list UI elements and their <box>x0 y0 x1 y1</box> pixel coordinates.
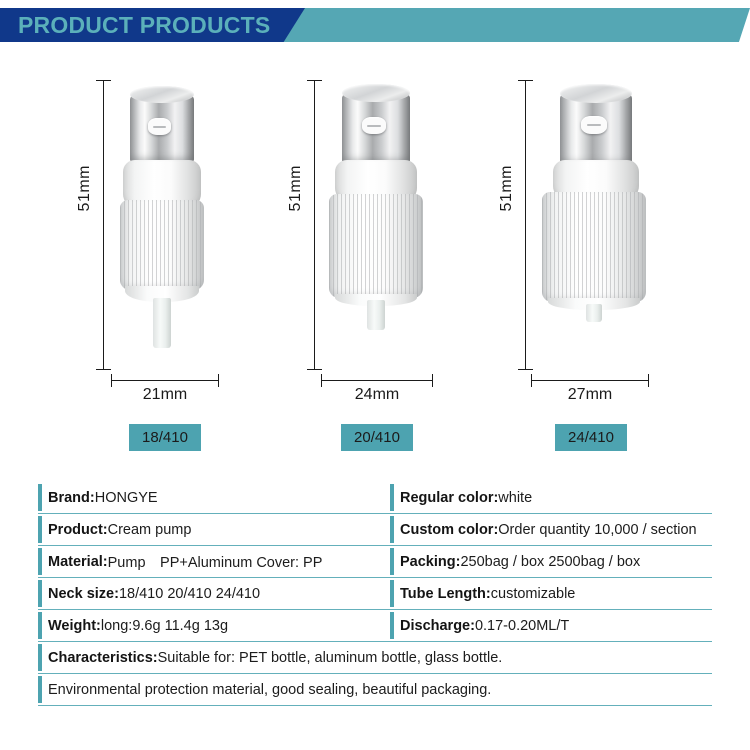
width-dimension-line-1 <box>111 380 219 381</box>
spec-key: Custom color: <box>400 522 498 538</box>
width-dimension-label-1: 21mm <box>111 386 219 404</box>
page-title: PRODUCT PRODUCTS <box>18 8 270 42</box>
spec-key: Tube Length: <box>400 586 491 602</box>
spec-cell-regular-color: Regular color:white <box>390 482 712 513</box>
neck-size-badge-3: 24/410 <box>555 424 627 451</box>
product-item-1: 51mm 21mm 18/410 <box>42 60 272 460</box>
spec-value: 18/410 20/410 24/410 <box>119 586 260 602</box>
height-dimension-line-1 <box>103 80 104 370</box>
spec-key: Weight: <box>48 618 101 634</box>
product-gallery: 51mm 21mm 18/410 51mm 24mm 20/ <box>0 60 750 460</box>
spec-value: white <box>498 490 532 506</box>
spec-cell-weight: Weight:long:9.6g 11.4g 13g <box>38 610 390 641</box>
spec-value: customizable <box>491 586 576 602</box>
height-dimension-line-2 <box>314 80 315 370</box>
spec-value: Order quantity 10,000 / section <box>498 522 696 538</box>
spec-cell-neck-size: Neck size:18/410 20/410 24/410 <box>38 578 390 609</box>
width-dimension-label-3: 27mm <box>531 386 649 404</box>
spec-key: Brand: <box>48 490 95 506</box>
spec-cell-custom-color: Custom color:Order quantity 10,000 / sec… <box>390 514 712 545</box>
spec-cell-discharge: Discharge:0.17-0.20ML/T <box>390 610 712 641</box>
spec-cell-brand: Brand:HONGYE <box>38 482 390 513</box>
product-item-3: 51mm 27mm 24/410 <box>468 60 698 460</box>
table-row: Product:Cream pump Custom color:Order qu… <box>38 514 712 546</box>
spec-value: Pump PP+Aluminum Cover: PP <box>108 551 323 572</box>
spec-value: long:9.6g 11.4g 13g <box>101 618 228 634</box>
pump-button-icon <box>581 116 607 134</box>
width-dimension-line-3 <box>531 380 649 381</box>
spec-key: Discharge: <box>400 618 475 634</box>
pump-button-icon <box>148 118 171 135</box>
spec-key: Regular color: <box>400 490 498 506</box>
spec-value: Environmental protection material, good … <box>48 682 491 698</box>
page-header-banner: PRODUCT PRODUCTS <box>0 8 750 42</box>
height-dimension-label-1: 51mm <box>76 165 94 211</box>
spec-cell-characteristics: Characteristics:Suitable for: PET bottle… <box>38 642 712 673</box>
spec-cell-tube-length: Tube Length:customizable <box>390 578 712 609</box>
table-row: Environmental protection material, good … <box>38 674 712 706</box>
spec-cell-material: Material:Pump PP+Aluminum Cover: PP <box>38 546 390 577</box>
spec-cell-environmental-note: Environmental protection material, good … <box>38 674 712 705</box>
specification-table: Brand:HONGYE Regular color:white Product… <box>38 482 712 706</box>
height-dimension-label-2: 51mm <box>287 165 305 211</box>
header-teal-stripe <box>274 8 750 42</box>
spec-key: Neck size: <box>48 586 119 602</box>
spec-value: HONGYE <box>95 490 158 506</box>
table-row: Material:Pump PP+Aluminum Cover: PP Pack… <box>38 546 712 578</box>
spec-key: Product: <box>48 522 108 538</box>
pump-button-icon <box>362 117 386 134</box>
neck-size-badge-1: 18/410 <box>129 424 201 451</box>
width-dimension-line-2 <box>321 380 433 381</box>
spec-value: Cream pump <box>108 522 192 538</box>
spec-cell-packing: Packing:250bag / box 2500bag / box <box>390 546 712 577</box>
spec-value: Suitable for: PET bottle, aluminum bottl… <box>158 650 503 666</box>
table-row: Weight:long:9.6g 11.4g 13g Discharge:0.1… <box>38 610 712 642</box>
spec-key: Material: <box>48 554 108 570</box>
neck-size-badge-2: 20/410 <box>341 424 413 451</box>
product-item-2: 51mm 24mm 20/410 <box>255 60 485 460</box>
spec-key: Packing: <box>400 554 460 570</box>
spec-value: 0.17-0.20ML/T <box>475 618 569 634</box>
width-dimension-label-2: 24mm <box>321 386 433 404</box>
table-row: Brand:HONGYE Regular color:white <box>38 482 712 514</box>
spec-key: Characteristics: <box>48 650 158 666</box>
table-row: Neck size:18/410 20/410 24/410 Tube Leng… <box>38 578 712 610</box>
table-row: Characteristics:Suitable for: PET bottle… <box>38 642 712 674</box>
height-dimension-line-3 <box>525 80 526 370</box>
spec-cell-product: Product:Cream pump <box>38 514 390 545</box>
height-dimension-label-3: 51mm <box>498 165 516 211</box>
spec-value: 250bag / box 2500bag / box <box>460 554 640 570</box>
